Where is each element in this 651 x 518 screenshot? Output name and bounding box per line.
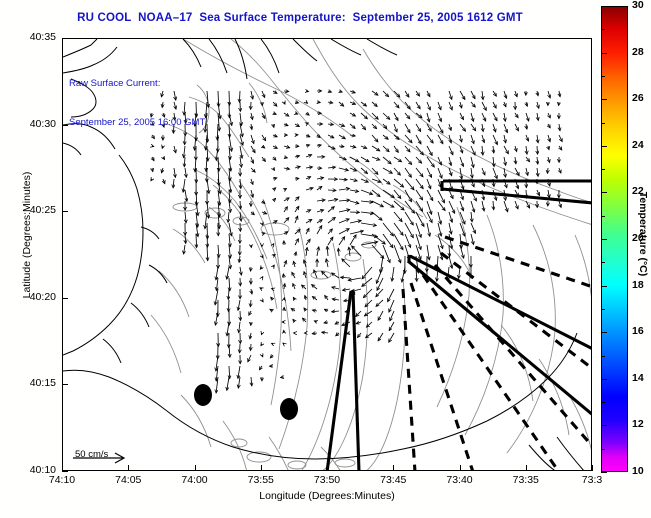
colorbar-minor-tick (601, 29, 605, 30)
colorbar-tick (601, 6, 607, 7)
colorbar-tick (601, 379, 607, 380)
x-tick-label: 73:45 (370, 474, 416, 486)
colorbar-tick-label: 14 (632, 372, 644, 384)
colorbar-tick-label: 16 (632, 325, 644, 337)
colorbar-tick (601, 425, 607, 426)
x-tick-label: 73:55 (238, 474, 284, 486)
x-tick (128, 465, 129, 471)
colorbar-minor-tick (601, 449, 605, 450)
x-tick-label: 73:50 (304, 474, 350, 486)
x-tick-label: 73:40 (437, 474, 483, 486)
colorbar-minor-tick (601, 169, 605, 170)
colorbar-tick-label: 12 (632, 418, 644, 430)
colorbar-minor-tick (601, 76, 605, 77)
annotation-line-1: Raw Surface Current: (69, 77, 205, 90)
figure-title: RU COOL NOAA–17 Sea Surface Temperature:… (0, 12, 600, 24)
colorbar-minor-tick (601, 356, 605, 357)
annotation-block: Raw Surface Current: September 25, 2005 … (69, 51, 205, 155)
colorbar-tick-label: 26 (632, 92, 644, 104)
map-plot-area[interactable]: Raw Surface Current: September 25, 2005 … (62, 38, 592, 471)
y-tick-label: 40:15 (4, 377, 56, 389)
colorbar-tick (601, 472, 607, 473)
velocity-scale-key: 50 cm/s (62, 449, 181, 460)
colorbar-tick (601, 146, 607, 147)
annotation-line-2: September 25, 2005 16:00 GMT (69, 116, 205, 129)
y-tick (62, 38, 68, 39)
x-tick (195, 465, 196, 471)
x-tick-label: 73:35 (503, 474, 549, 486)
colorbar-tick-label: 10 (632, 465, 644, 477)
x-tick (261, 465, 262, 471)
colorbar-tick (601, 53, 607, 54)
colorbar-tick (601, 332, 607, 333)
y-tick-label: 40:10 (4, 464, 56, 476)
colorbar-tick-label: 28 (632, 46, 644, 58)
figure-root: RU COOL NOAA–17 Sea Surface Temperature:… (0, 0, 651, 518)
x-tick-label: 73:3 (569, 474, 615, 486)
y-axis-label: Latitude (Degrees:Minutes) (21, 115, 33, 355)
colorbar-tick (601, 239, 607, 240)
x-tick-label: 74:00 (172, 474, 218, 486)
colorbar-minor-tick (601, 123, 605, 124)
y-tick (62, 211, 68, 212)
colorbar-label: Temperature (°C) (637, 144, 649, 324)
y-tick (62, 125, 68, 126)
colorbar-tick (601, 286, 607, 287)
x-tick (592, 465, 593, 471)
right-arrow-icon (62, 449, 141, 465)
colorbar-minor-tick (601, 216, 605, 217)
colorbar-tick (601, 192, 607, 193)
colorbar-minor-tick (601, 309, 605, 310)
x-tick (460, 465, 461, 471)
y-tick (62, 471, 68, 472)
y-tick-label: 40:35 (4, 31, 56, 43)
colorbar-tick-label: 30 (632, 0, 644, 11)
x-tick (526, 465, 527, 471)
x-tick (327, 465, 328, 471)
x-tick (393, 465, 394, 471)
x-axis-label: Longitude (Degrees:Minutes) (62, 490, 592, 502)
y-tick (62, 298, 68, 299)
y-tick (62, 384, 68, 385)
colorbar-minor-tick (601, 262, 605, 263)
colorbar-tick (601, 99, 607, 100)
x-tick-label: 74:05 (105, 474, 151, 486)
colorbar-minor-tick (601, 402, 605, 403)
